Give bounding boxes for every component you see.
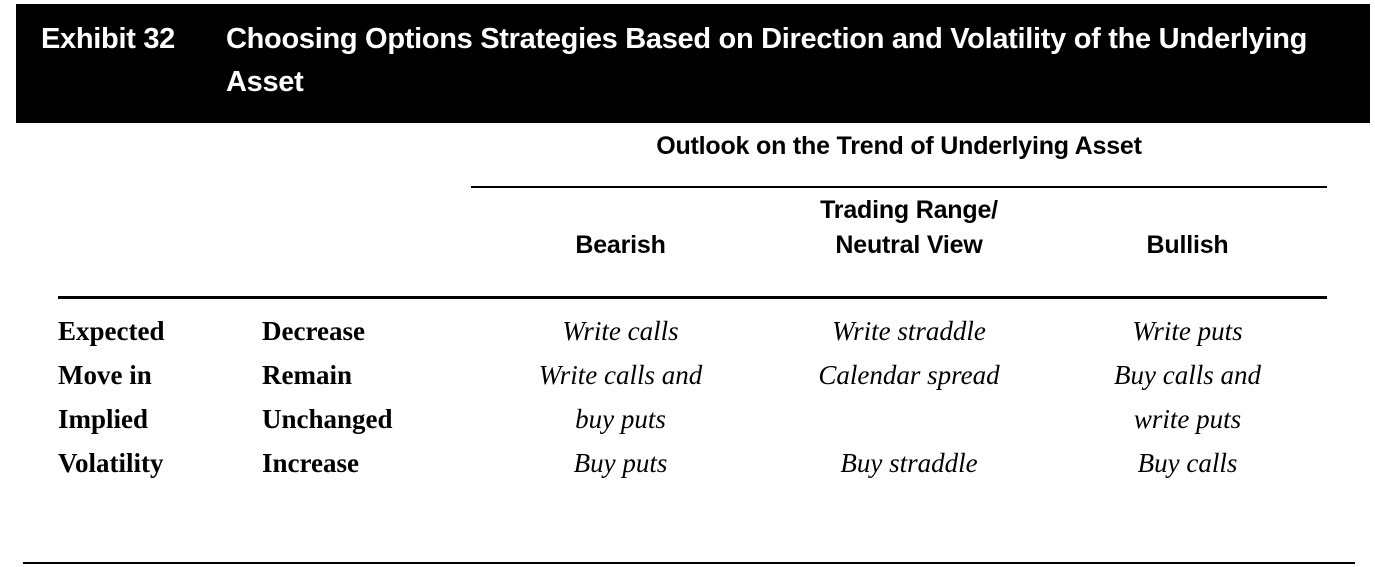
cell-increase-neutral: Buy straddle [770, 441, 1048, 485]
cell-increase-bearish: Buy puts [471, 441, 770, 485]
cell-remain-bullish: Buy calls and write puts [1048, 353, 1327, 441]
table-body: Decrease Write calls Write straddle Writ… [0, 309, 1375, 485]
cell-remain-bearish-line1: Write calls and [471, 353, 770, 397]
cell-decrease-neutral-line1: Write straddle [770, 309, 1048, 353]
exhibit-title: Choosing Options Strategies Based on Dir… [226, 18, 1331, 104]
cell-decrease-bullish: Write puts [1048, 309, 1327, 353]
row-label-increase: Increase [262, 441, 471, 485]
column-header-bullish-line2: Bullish [1048, 228, 1327, 263]
group-header-outlook: Outlook on the Trend of Underlying Asset [471, 130, 1327, 162]
table-row: Remain Unchanged Write calls and buy put… [0, 353, 1375, 441]
exhibit-table: Outlook on the Trend of Underlying Asset… [0, 123, 1375, 567]
cell-remain-bullish-line1: Buy calls and [1048, 353, 1327, 397]
exhibit-number-label: Exhibit 32 [16, 18, 226, 61]
rule-table-bottom [23, 562, 1355, 564]
row-label-decrease: Decrease [262, 309, 471, 353]
stub-column-cell [58, 309, 262, 353]
cell-increase-bullish: Buy calls [1048, 441, 1327, 485]
cell-decrease-bearish-line1: Write calls [471, 309, 770, 353]
cell-decrease-bearish: Write calls [471, 309, 770, 353]
cell-increase-neutral-line1: Buy straddle [770, 441, 1048, 485]
exhibit-banner-row: Exhibit 32 Choosing Options Strategies B… [16, 18, 1370, 104]
column-header-bullish: Bullish [1048, 193, 1327, 265]
cell-remain-bearish: Write calls and buy puts [471, 353, 770, 441]
cell-remain-bearish-line2: buy puts [471, 397, 770, 441]
stub-column-cell [58, 353, 262, 397]
column-header-neutral: Trading Range/ Neutral View [770, 193, 1048, 265]
cell-decrease-neutral: Write straddle [770, 309, 1048, 353]
cell-remain-bullish-line2: write puts [1048, 397, 1327, 441]
row-label-increase-line1: Increase [262, 441, 471, 485]
rule-under-group-header [471, 186, 1327, 188]
rule-under-column-headers [58, 296, 1327, 299]
cell-increase-bullish-line1: Buy calls [1048, 441, 1327, 485]
column-header-bearish-line1 [471, 193, 770, 228]
row-label-remain-unchanged: Remain Unchanged [262, 353, 471, 441]
cell-remain-neutral-line1: Calendar spread [770, 353, 1048, 397]
exhibit-banner: Exhibit 32 Choosing Options Strategies B… [16, 4, 1370, 123]
column-header-neutral-line1: Trading Range/ [770, 193, 1048, 228]
column-header-row: Bearish Trading Range/ Neutral View Bull… [471, 193, 1327, 265]
row-label-remain-unchanged-line2: Unchanged [262, 397, 471, 441]
cell-increase-bearish-line1: Buy puts [471, 441, 770, 485]
cell-remain-neutral: Calendar spread [770, 353, 1048, 397]
stub-column-cell [58, 441, 262, 485]
table-row: Increase Buy puts Buy straddle Buy calls [0, 441, 1375, 485]
table-row: Decrease Write calls Write straddle Writ… [0, 309, 1375, 353]
cell-decrease-bullish-line1: Write puts [1048, 309, 1327, 353]
row-label-remain-unchanged-line1: Remain [262, 353, 471, 397]
row-label-decrease-line1: Decrease [262, 309, 471, 353]
column-header-bearish: Bearish [471, 193, 770, 265]
column-header-neutral-line2: Neutral View [770, 228, 1048, 263]
column-header-bullish-line1 [1048, 193, 1327, 228]
column-header-bearish-line2: Bearish [471, 228, 770, 263]
